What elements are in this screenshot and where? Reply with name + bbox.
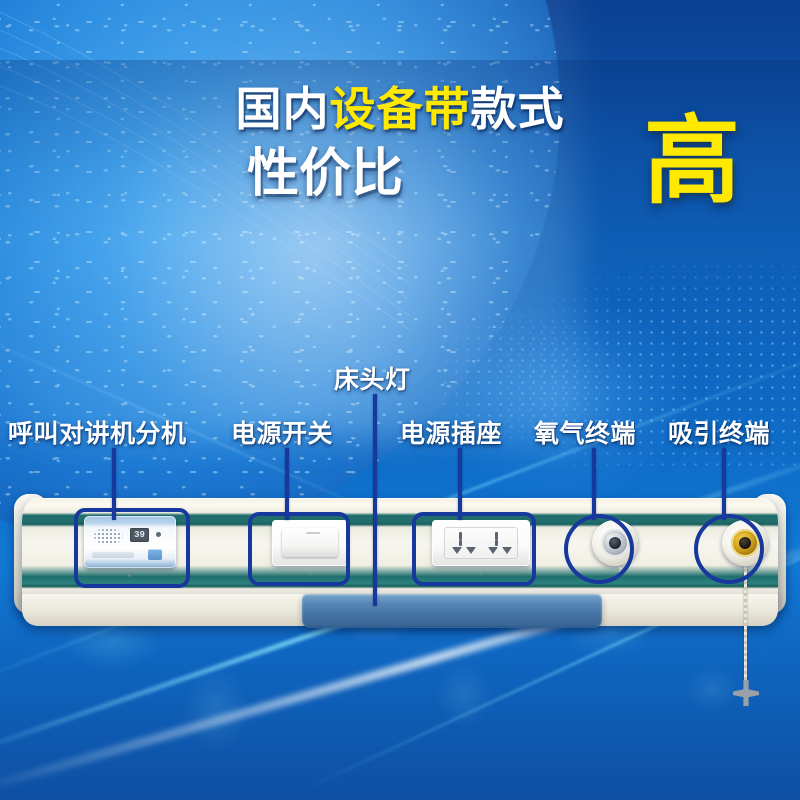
- leader-line-power-socket: [458, 448, 462, 520]
- callout-label-suction-terminal: 吸引终端: [668, 414, 770, 450]
- callout-box-intercom: [74, 508, 190, 588]
- leader-line-suction: [722, 448, 726, 520]
- callout-label-oxygen-terminal: 氧气终端: [534, 414, 636, 450]
- callout-box-power-socket: [412, 512, 536, 586]
- callout-label-layer: 呼叫对讲机分机 电源开关 床头灯 电源插座 氧气终端 吸引终端: [0, 0, 800, 800]
- callout-circle-oxygen: [564, 514, 634, 584]
- promo-image-canvas: 国内设备带款式 性价比 高 呼叫对讲机分机 电源开关 床头灯 电源插座 氧气终端…: [0, 0, 800, 800]
- callout-circle-suction: [694, 514, 764, 584]
- leader-line-power-switch: [285, 448, 289, 520]
- leader-line-oxygen: [592, 448, 596, 520]
- callout-label-nurse-call-intercom: 呼叫对讲机分机: [8, 414, 187, 450]
- callout-label-power-socket: 电源插座: [400, 414, 502, 450]
- callout-label-bed-lamp: 床头灯: [334, 360, 411, 396]
- callout-box-power-switch: [248, 512, 350, 586]
- leader-line-bed-lamp: [373, 394, 377, 606]
- callout-label-power-switch: 电源开关: [231, 414, 333, 450]
